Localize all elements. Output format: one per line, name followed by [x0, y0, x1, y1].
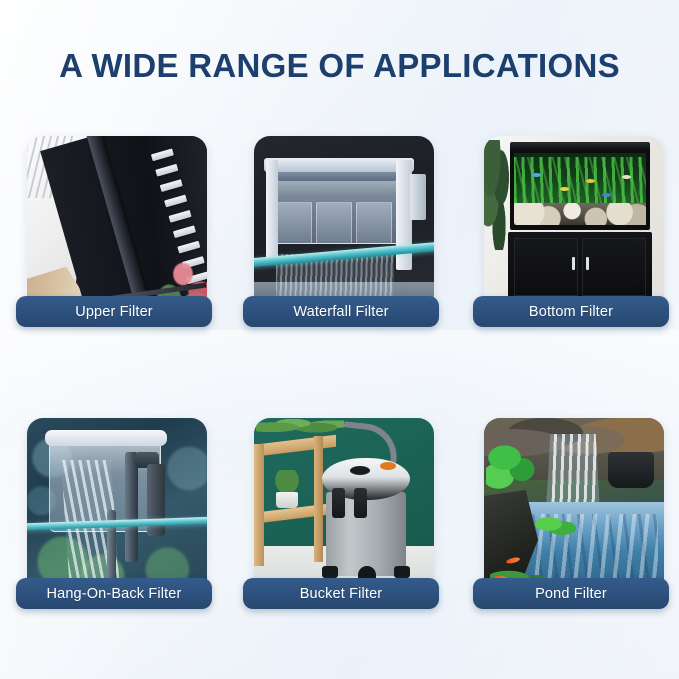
bucket-filter-photo [254, 418, 434, 598]
fish [532, 173, 541, 177]
filter-left-post [266, 160, 278, 260]
application-card-hang-on-back-filter[interactable]: Hang-On-Back Filter [16, 410, 212, 630]
canister-clamp-left [332, 488, 345, 518]
bottom-filter-photo [484, 136, 664, 316]
pond-filter-scene [484, 418, 664, 598]
upper-filter-label[interactable]: Upper Filter [16, 296, 212, 327]
fish [586, 179, 595, 183]
shelf-leg-left [254, 444, 264, 566]
cabinet-door-right [582, 238, 646, 296]
fish [560, 187, 569, 191]
cabinet-handle-right [586, 257, 589, 270]
hang-on-back-filter-label[interactable]: Hang-On-Back Filter [16, 578, 212, 609]
filter-intake-tube [125, 452, 138, 562]
plant-pot [276, 492, 298, 508]
filter-lid [264, 158, 414, 172]
canister-foot-right [394, 566, 410, 578]
bottom-filter-label[interactable]: Bottom Filter [473, 296, 669, 327]
aquarium-cabinet [508, 232, 652, 304]
application-card-bottom-filter[interactable]: Bottom Filter [473, 128, 669, 348]
bottom-filter-label-text: Bottom Filter [529, 304, 613, 320]
pond-filter-box [608, 452, 654, 488]
water-lily [530, 512, 576, 538]
waterfall-filter-label-text: Waterfall Filter [293, 304, 388, 320]
bucket-filter-label[interactable]: Bucket Filter [243, 578, 439, 609]
shelf-top [254, 435, 336, 458]
aquarium-water [514, 153, 646, 225]
upper-filter-scene [27, 136, 207, 316]
hang-on-back-filter-scene [27, 418, 207, 598]
shelf-greenery [256, 418, 344, 436]
page-title: A WIDE RANGE OF APPLICATIONS [0, 46, 679, 86]
upper-filter-photo [27, 136, 207, 316]
pond-waterfall [546, 434, 600, 512]
pond-filter-photo [484, 418, 664, 598]
pond-filter-label[interactable]: Pond Filter [473, 578, 669, 609]
hang-on-back-filter-label-text: Hang-On-Back Filter [47, 586, 182, 602]
cabinet-handle-left [572, 257, 575, 270]
filter-media-chambers [276, 202, 392, 244]
canister-control-dial [350, 466, 370, 475]
fish [622, 175, 631, 179]
bucket-filter-label-text: Bucket Filter [300, 586, 383, 602]
application-card-bucket-filter[interactable]: Bucket Filter [243, 410, 439, 630]
waterfall-filter-scene [254, 136, 434, 316]
aquarium-hood [510, 142, 650, 151]
waterfall-filter-photo [254, 136, 434, 316]
application-card-pond-filter[interactable]: Pond Filter [473, 410, 669, 630]
application-card-grid: Upper Filter Waterfall Filter [0, 120, 679, 650]
fish [602, 193, 611, 197]
application-card-upper-filter[interactable]: Upper Filter [16, 128, 212, 348]
application-card-waterfall-filter[interactable]: Waterfall Filter [243, 128, 439, 348]
hang-on-back-filter-photo [27, 418, 207, 598]
canister-foot-left [322, 566, 338, 578]
cabinet-door-left [514, 238, 578, 296]
canister-primer-knob [380, 462, 396, 470]
filter-lid [45, 430, 167, 446]
aquatic-plants [514, 157, 646, 205]
upper-filter-label-text: Upper Filter [75, 304, 153, 320]
filter-spillway [278, 172, 396, 181]
aquarium-gravel [514, 203, 646, 225]
bottom-filter-scene [484, 136, 664, 316]
pond-filter-label-text: Pond Filter [535, 586, 607, 602]
waterfall-filter-label[interactable]: Waterfall Filter [243, 296, 439, 327]
filter-pump-motor [410, 174, 426, 220]
bucket-filter-scene [254, 418, 434, 598]
canister-clamp-right [354, 488, 367, 518]
pond-plants [486, 436, 548, 490]
shelf-leg-right [314, 436, 323, 562]
